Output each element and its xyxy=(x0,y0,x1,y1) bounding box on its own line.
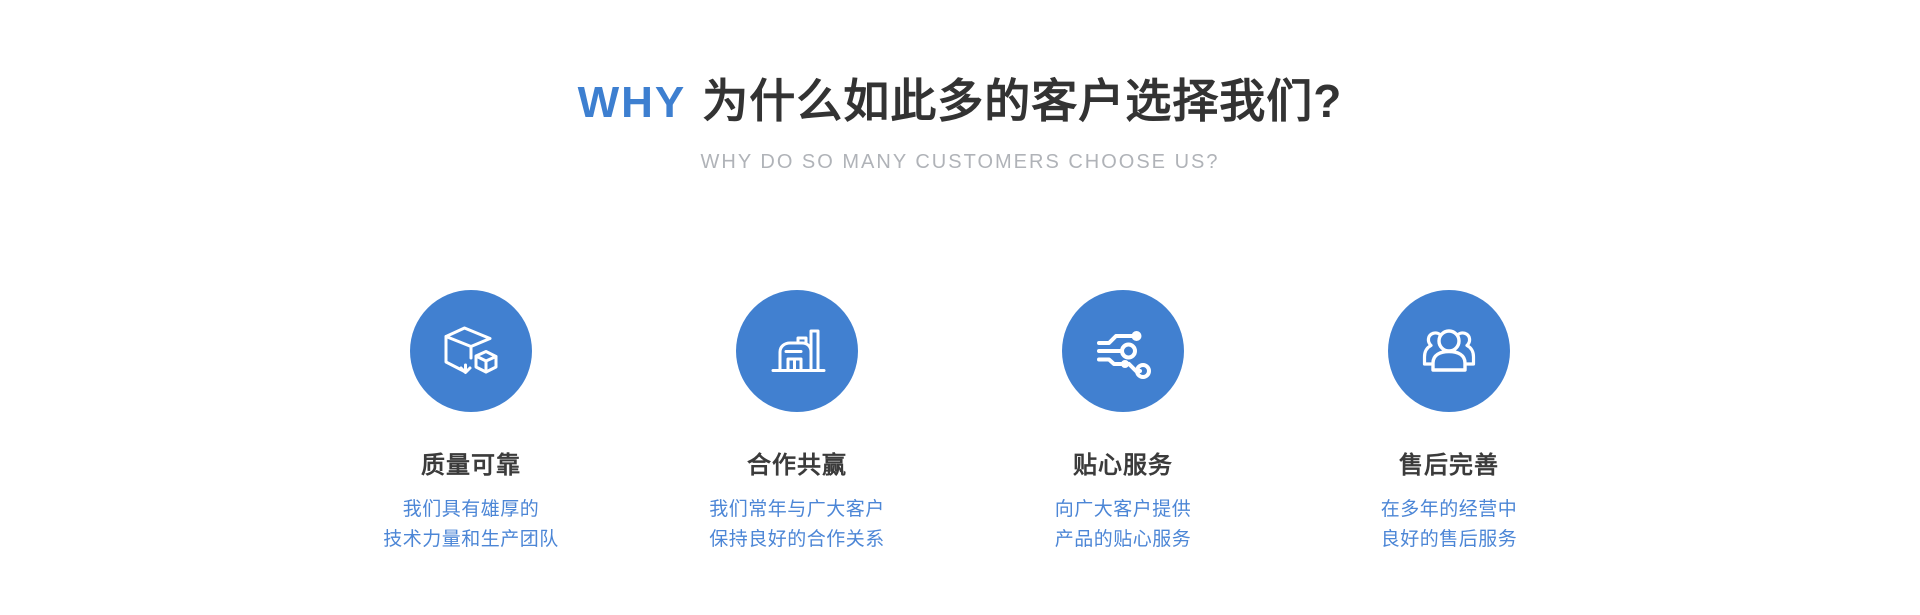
card-description-line: 在多年的经营中 xyxy=(1286,495,1612,525)
card-description-line: 向广大客户提供 xyxy=(960,495,1286,525)
users-group-icon xyxy=(1416,318,1482,384)
feature-card: 质量可靠 我们具有雄厚的 技术力量和生产团队 xyxy=(308,290,634,555)
feature-card: 贴心服务 向广大客户提供 产品的贴心服务 xyxy=(960,290,1286,555)
feature-card: 售后完善 在多年的经营中 良好的售后服务 xyxy=(1286,290,1612,555)
card-description: 在多年的经营中 良好的售后服务 xyxy=(1286,481,1612,555)
card-title: 质量可靠 xyxy=(308,412,634,481)
card-description-line: 良好的售后服务 xyxy=(1286,525,1612,555)
why-choose-us-section: WHY为什么如此多的客户选择我们? WHY DO SO MANY CUSTOME… xyxy=(0,0,1920,615)
section-header: WHY为什么如此多的客户选择我们? WHY DO SO MANY CUSTOME… xyxy=(0,0,1920,174)
card-description-line: 产品的贴心服务 xyxy=(960,525,1286,555)
factory-icon xyxy=(764,318,830,384)
package-box-icon xyxy=(438,318,504,384)
card-description-line: 保持良好的合作关系 xyxy=(634,525,960,555)
icon-circle xyxy=(1388,290,1510,412)
icon-circle xyxy=(1062,290,1184,412)
title-accent-why: WHY xyxy=(578,78,687,127)
card-description-line: 我们具有雄厚的 xyxy=(308,495,634,525)
feature-card-list: 质量可靠 我们具有雄厚的 技术力量和生产团队 xyxy=(0,290,1920,555)
card-description: 我们常年与广大客户 保持良好的合作关系 xyxy=(634,481,960,555)
card-title: 贴心服务 xyxy=(960,412,1286,481)
page-title: WHY为什么如此多的客户选择我们? xyxy=(0,74,1920,129)
card-description: 向广大客户提供 产品的贴心服务 xyxy=(960,481,1286,555)
title-chinese: 为什么如此多的客户选择我们? xyxy=(702,75,1342,127)
icon-circle xyxy=(736,290,858,412)
card-description-line: 我们常年与广大客户 xyxy=(634,495,960,525)
card-title: 合作共赢 xyxy=(634,412,960,481)
page-subtitle: WHY DO SO MANY CUSTOMERS CHOOSE US? xyxy=(0,129,1920,174)
card-description-line: 技术力量和生产团队 xyxy=(308,525,634,555)
circuit-nodes-icon xyxy=(1090,318,1156,384)
feature-card: 合作共赢 我们常年与广大客户 保持良好的合作关系 xyxy=(634,290,960,555)
icon-circle xyxy=(410,290,532,412)
card-description: 我们具有雄厚的 技术力量和生产团队 xyxy=(308,481,634,555)
card-title: 售后完善 xyxy=(1286,412,1612,481)
